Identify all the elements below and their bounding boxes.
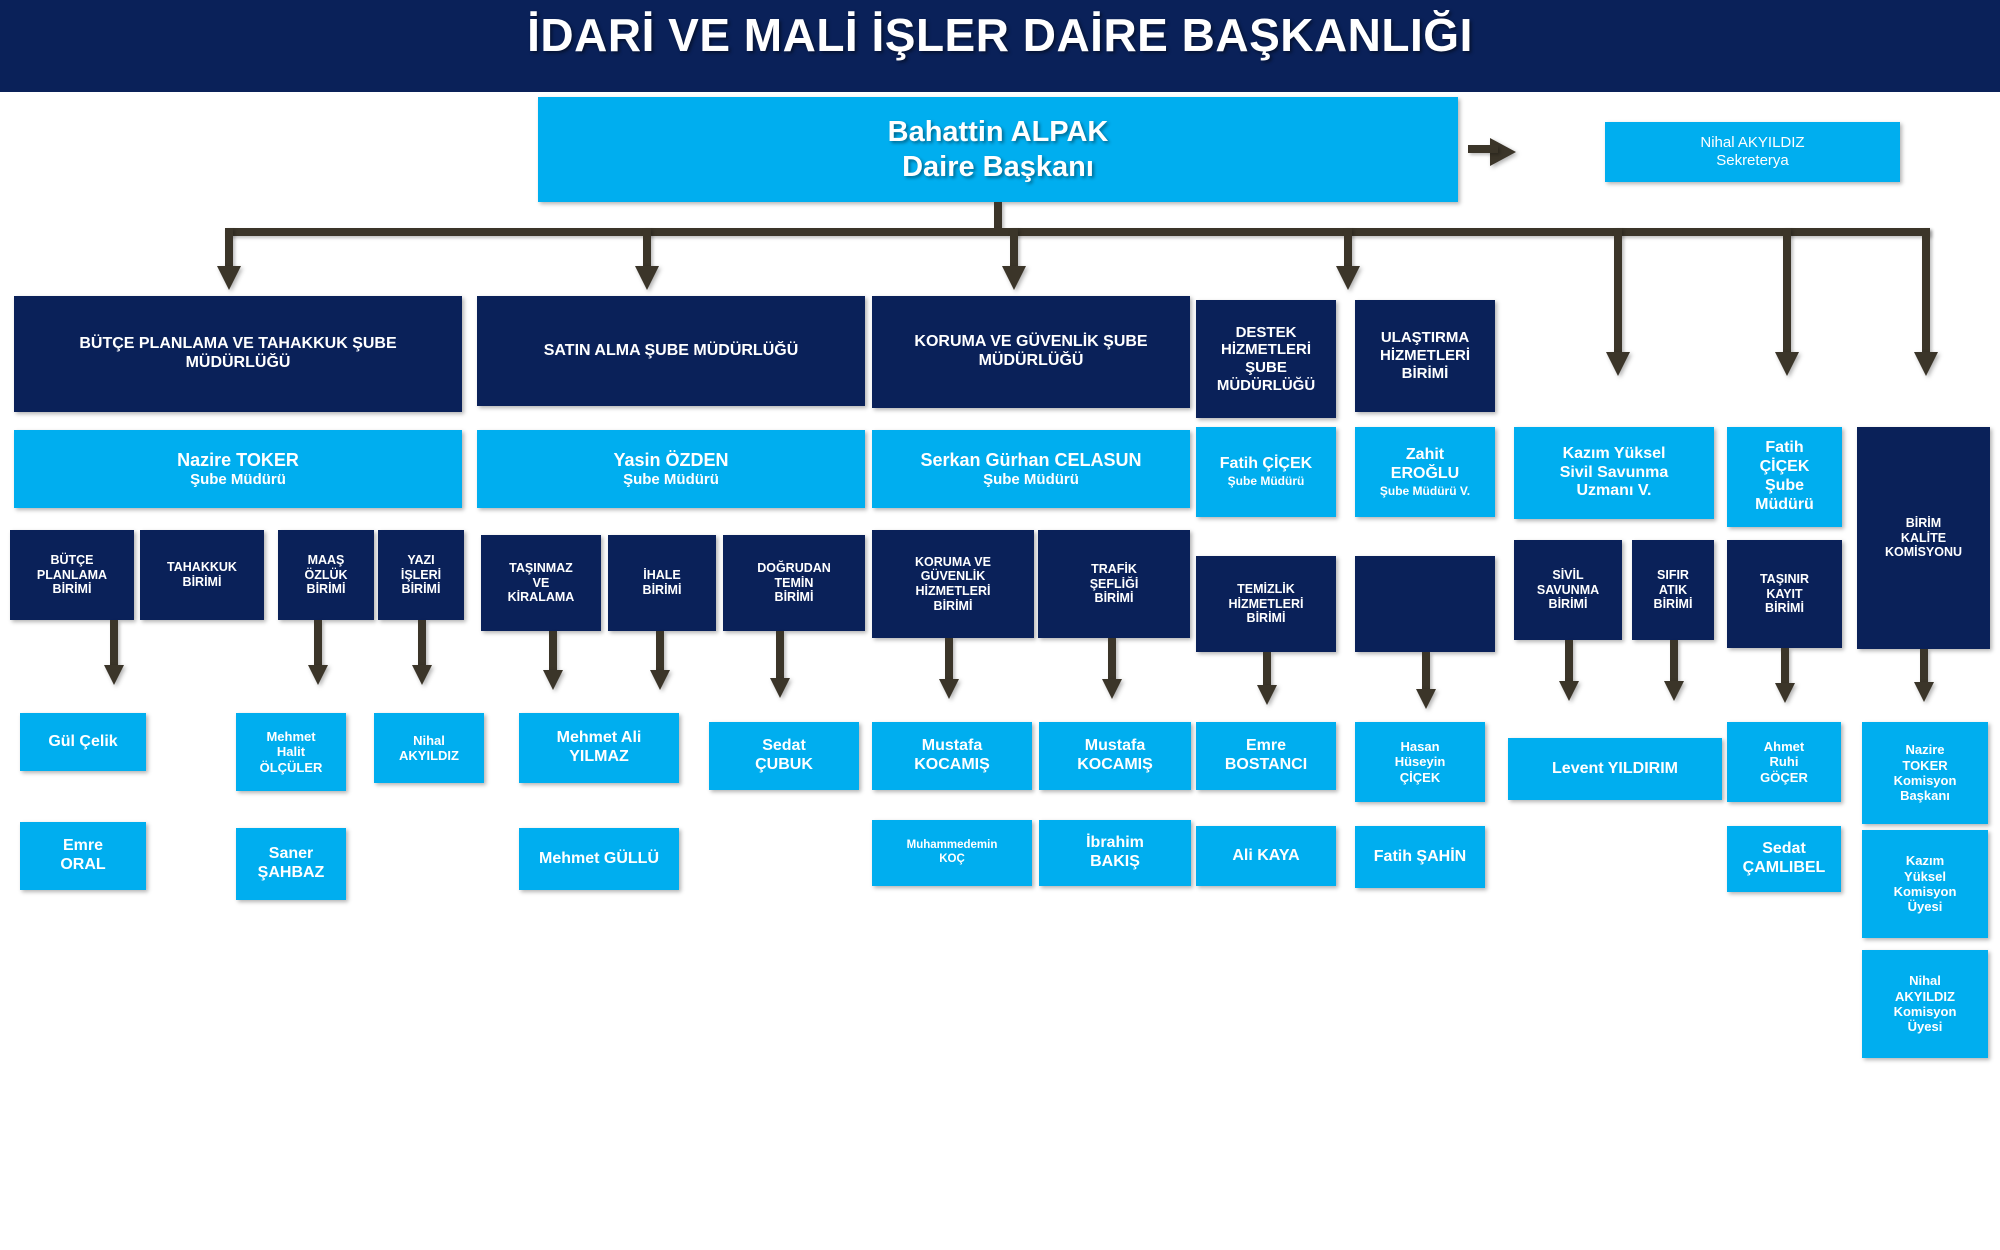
unit-butce-planlama-line2: PLANLAMA bbox=[37, 568, 107, 583]
staff-ibrahim-line1: İbrahim bbox=[1086, 834, 1144, 853]
department-destek-line2: HİZMETLERİ bbox=[1221, 341, 1311, 359]
unit-box-sivil-savunma[interactable]: SİVİL SAVUNMA BİRİMİ bbox=[1514, 540, 1622, 640]
arrow-butce-icon bbox=[217, 266, 241, 290]
unit-dogrudan-line3: BİRİMİ bbox=[775, 590, 814, 605]
unit-koruma-h-line1: KORUMA VE bbox=[915, 555, 991, 570]
unit-yazi-line1: YAZI bbox=[407, 553, 434, 568]
staff-box-ali-kaya[interactable]: Ali KAYA bbox=[1196, 826, 1336, 886]
unit-ihale-line1: İHALE bbox=[643, 568, 681, 583]
staff-levent-line1: Levent YILDIRIM bbox=[1552, 760, 1678, 779]
unit-box-tahakkuk[interactable]: TAHAKKUK BİRİMİ bbox=[140, 530, 264, 620]
unit-tasinmaz-line1: TAŞINMAZ bbox=[509, 561, 573, 576]
staff-nazire-k-line2: TOKER bbox=[1902, 758, 1947, 773]
staff-sedat-camlibel-line2: ÇAMLIBEL bbox=[1743, 859, 1826, 878]
staff-box-gul-celik[interactable]: Gül Çelik bbox=[20, 713, 146, 771]
manager-sivil-line2: Sivil Savunma bbox=[1560, 464, 1669, 483]
connector-sifir-atik bbox=[1670, 640, 1678, 684]
drop-destek bbox=[1344, 228, 1352, 270]
unit-dogrudan-line1: DOĞRUDAN bbox=[757, 561, 831, 576]
drop-satinalma bbox=[643, 228, 651, 270]
unit-box-butce-planlama[interactable]: BÜTÇE PLANLAMA BİRİMİ bbox=[10, 530, 134, 620]
staff-mehmet-ali-line1: Mehmet Ali bbox=[557, 729, 642, 748]
page-title: İDARİ VE MALİ İŞLER DAİRE BAŞKANLIĞI bbox=[0, 8, 2000, 62]
manager-sivil-line3: Uzmanı V. bbox=[1577, 482, 1652, 501]
staff-kazim-k-line3: Komisyon bbox=[1894, 884, 1957, 899]
unit-tasinir-line1: TAŞINIR bbox=[1760, 572, 1809, 587]
staff-box-emre-oral[interactable]: Emre ORAL bbox=[20, 822, 146, 890]
staff-mehmet-halit-line2: Halit bbox=[277, 744, 305, 759]
arrow-ihale-icon bbox=[650, 670, 670, 690]
staff-muhammed-line1: Muhammedemin bbox=[907, 839, 998, 853]
department-ulastirma-line1: ULAŞTIRMA bbox=[1381, 329, 1469, 347]
department-box-ulastirma[interactable]: ULAŞTIRMA HİZMETLERİ BİRİMİ bbox=[1355, 300, 1495, 412]
staff-nihal-k-line3: Komisyon bbox=[1894, 1004, 1957, 1019]
manager-ulastirma-name-line2: EROĞLU bbox=[1391, 465, 1459, 484]
manager-box-tasinir[interactable]: Fatih ÇİÇEK Şube Müdürü bbox=[1727, 427, 1842, 527]
department-butce-line2: MÜDÜRLÜĞÜ bbox=[186, 354, 291, 373]
unit-sifir-line2: ATIK bbox=[1659, 583, 1687, 598]
staff-box-mustafa-kocamis-2[interactable]: Mustafa KOCAMIŞ bbox=[1039, 722, 1191, 790]
unit-box-temizlik[interactable]: TEMİZLİK HİZMETLERİ BİRİMİ bbox=[1196, 556, 1336, 652]
manager-box-ulastirma[interactable]: Zahit EROĞLU Şube Müdürü V. bbox=[1355, 427, 1495, 517]
staff-box-ahmet-ruhi[interactable]: Ahmet Ruhi GÖÇER bbox=[1727, 722, 1841, 802]
department-box-destek[interactable]: DESTEK HİZMETLERİ ŞUBE MÜDÜRLÜĞÜ bbox=[1196, 300, 1336, 418]
staff-mustafa-1-line2: KOCAMIŞ bbox=[914, 756, 990, 775]
manager-koruma-title: Şube Müdürü bbox=[983, 471, 1079, 489]
staff-kazim-k-line2: Yüksel bbox=[1904, 869, 1946, 884]
staff-emre-bostanci-line2: BOSTANCI bbox=[1225, 756, 1307, 775]
unit-temizlik-line1: TEMİZLİK bbox=[1237, 582, 1295, 597]
connector-butce-planlama bbox=[110, 620, 118, 668]
manager-tasinir-line2: ÇİÇEK bbox=[1760, 458, 1810, 477]
staff-mustafa-2-line1: Mustafa bbox=[1085, 737, 1145, 756]
unit-yazi-line2: İŞLERİ bbox=[401, 568, 441, 583]
unit-sivil-line1: SİVİL bbox=[1552, 568, 1583, 583]
department-destek-line4: MÜDÜRLÜĞÜ bbox=[1217, 377, 1315, 395]
connector-temizlik bbox=[1263, 652, 1271, 688]
connector-dogrudan bbox=[776, 631, 784, 681]
staff-box-mehmet-ali-yilmaz[interactable]: Mehmet Ali YILMAZ bbox=[519, 713, 679, 783]
arrow-sifir-atik-icon bbox=[1664, 681, 1684, 701]
staff-box-sedat-camlibel[interactable]: Sedat ÇAMLIBEL bbox=[1727, 826, 1841, 892]
manager-ulastirma-name-line1: Zahit bbox=[1406, 446, 1444, 465]
manager-satinalma-title: Şube Müdürü bbox=[623, 471, 719, 489]
staff-box-mustafa-kocamis-1[interactable]: Mustafa KOCAMIŞ bbox=[872, 722, 1032, 790]
staff-nazire-k-line3: Komisyon bbox=[1894, 773, 1957, 788]
arrow-sivil-icon bbox=[1606, 352, 1630, 376]
staff-box-kazim-yuksel-komisyon[interactable]: Kazım Yüksel Komisyon Üyesi bbox=[1862, 830, 1988, 938]
department-box-butce[interactable]: BÜTÇE PLANLAMA VE TAHAKKUK ŞUBE MÜDÜRLÜĞ… bbox=[14, 296, 462, 412]
drop-koruma bbox=[1010, 228, 1018, 270]
connector-tasinir-unit bbox=[1781, 648, 1789, 686]
arrow-maas-icon bbox=[308, 665, 328, 685]
arrow-tasinmaz-icon bbox=[543, 670, 563, 690]
drop-komisyon bbox=[1922, 228, 1930, 356]
staff-hasan-line1: Hasan bbox=[1400, 739, 1439, 754]
root-name: Bahattin ALPAK bbox=[888, 115, 1109, 149]
drop-butce bbox=[225, 228, 233, 270]
unit-temizlik-line2: HİZMETLERİ bbox=[1229, 597, 1304, 612]
unit-dogrudan-line2: TEMİN bbox=[775, 576, 814, 591]
unit-butce-planlama-line3: BİRİMİ bbox=[53, 582, 92, 597]
manager-koruma-name: Serkan Gürhan CELASUN bbox=[920, 450, 1141, 471]
department-satinalma-line1: SATIN ALMA ŞUBE MÜDÜRLÜĞÜ bbox=[544, 342, 799, 361]
unit-box-blank[interactable] bbox=[1355, 556, 1495, 652]
manager-tasinir-line4: Müdürü bbox=[1755, 496, 1814, 515]
unit-sifir-line3: BİRİMİ bbox=[1654, 597, 1693, 612]
manager-box-destek[interactable]: Fatih ÇİÇEK Şube Müdürü bbox=[1196, 427, 1336, 517]
staff-mehmet-ali-line2: YILMAZ bbox=[569, 748, 629, 767]
arrow-sivil-unit-icon bbox=[1559, 681, 1579, 701]
drop-tasinir bbox=[1783, 228, 1791, 356]
manager-ulastirma-title: Şube Müdürü V. bbox=[1380, 484, 1470, 498]
connector-trafik bbox=[1108, 638, 1116, 682]
staff-kazim-k-line1: Kazım bbox=[1906, 853, 1944, 868]
staff-mustafa-2-line2: KOCAMIŞ bbox=[1077, 756, 1153, 775]
arrow-yazi-icon bbox=[412, 665, 432, 685]
connector-koruma-h bbox=[945, 638, 953, 682]
unit-box-yazi-isleri[interactable]: YAZI İŞLERİ BİRİMİ bbox=[378, 530, 464, 620]
unit-ihale-line2: BİRİMİ bbox=[643, 583, 682, 598]
unit-tasinmaz-line2: VE bbox=[533, 576, 550, 591]
connector-sivil-unit bbox=[1565, 640, 1573, 684]
staff-mehmet-gullu-line1: Mehmet GÜLLÜ bbox=[539, 850, 659, 869]
staff-emre-bostanci-line1: Emre bbox=[1246, 737, 1286, 756]
staff-nazire-k-line4: Başkanı bbox=[1900, 788, 1950, 803]
staff-box-emre-bostanci[interactable]: Emre BOSTANCI bbox=[1196, 722, 1336, 790]
root-drop-line bbox=[994, 202, 1002, 228]
arrow-koruma-h-icon bbox=[939, 679, 959, 699]
unit-temizlik-line3: BİRİMİ bbox=[1247, 611, 1286, 626]
department-box-koruma[interactable]: KORUMA VE GÜVENLİK ŞUBE MÜDÜRLÜĞÜ bbox=[872, 296, 1190, 408]
manager-destek-title: Şube Müdürü bbox=[1228, 474, 1305, 488]
unit-maas-line3: BİRİMİ bbox=[307, 582, 346, 597]
staff-muhammed-line2: KOÇ bbox=[939, 853, 965, 867]
arrow-dogrudan-icon bbox=[770, 678, 790, 698]
staff-saner-line2: ŞAHBAZ bbox=[258, 864, 325, 883]
staff-emre-oral-line1: Emre bbox=[63, 837, 103, 856]
staff-box-fatih-sahin[interactable]: Fatih ŞAHİN bbox=[1355, 826, 1485, 888]
department-destek-line3: ŞUBE bbox=[1245, 359, 1287, 377]
staff-nihal-line2: AKYILDIZ bbox=[399, 748, 459, 763]
arrow-destek-icon bbox=[1336, 266, 1360, 290]
arrow-blank-icon bbox=[1416, 689, 1436, 709]
unit-box-dogrudan-temin[interactable]: DOĞRUDAN TEMİN BİRİMİ bbox=[723, 535, 865, 631]
unit-sifir-line1: SIFIR bbox=[1657, 568, 1689, 583]
staff-ahmet-line3: GÖÇER bbox=[1760, 770, 1808, 785]
department-ulastirma-line3: BİRİMİ bbox=[1402, 365, 1449, 383]
staff-sedat-cubuk-line2: ÇUBUK bbox=[755, 756, 813, 775]
unit-tasinir-line2: KAYIT bbox=[1766, 587, 1802, 602]
unit-butce-planlama-line1: BÜTÇE bbox=[50, 553, 93, 568]
unit-trafik-line2: ŞEFLİĞİ bbox=[1090, 577, 1139, 592]
staff-nihal-k-line2: AKYILDIZ bbox=[1895, 989, 1955, 1004]
manager-box-koruma[interactable]: Serkan Gürhan CELASUN Şube Müdürü bbox=[872, 430, 1190, 508]
komisyon-line3: KOMİSYONU bbox=[1885, 545, 1962, 560]
staff-ali-kaya-line1: Ali KAYA bbox=[1232, 847, 1299, 866]
unit-maas-line1: MAAŞ bbox=[308, 553, 345, 568]
unit-koruma-h-line4: BİRİMİ bbox=[934, 599, 973, 614]
unit-trafik-line1: TRAFİK bbox=[1091, 562, 1137, 577]
department-ulastirma-line2: HİZMETLERİ bbox=[1380, 347, 1470, 365]
staff-box-nihal-akyildiz[interactable]: Nihal AKYILDIZ bbox=[374, 713, 484, 783]
department-box-satinalma[interactable]: SATIN ALMA ŞUBE MÜDÜRLÜĞÜ bbox=[477, 296, 865, 406]
org-chart-canvas: İDARİ VE MALİ İŞLER DAİRE BAŞKANLIĞI Bah… bbox=[0, 0, 2000, 1250]
secretary-title: Sekreterya bbox=[1716, 152, 1789, 170]
komisyon-line1: BİRİM bbox=[1906, 516, 1941, 531]
arrow-trafik-icon bbox=[1102, 679, 1122, 699]
manager-tasinir-line1: Fatih bbox=[1765, 439, 1803, 458]
unit-maas-line2: ÖZLÜK bbox=[304, 568, 347, 583]
unit-koruma-h-line2: GÜVENLİK bbox=[921, 569, 986, 584]
connector-komisyon-unit bbox=[1920, 649, 1928, 685]
unit-tahakkuk-line1: TAHAKKUK bbox=[167, 560, 237, 575]
unit-sivil-line2: SAVUNMA bbox=[1537, 583, 1599, 598]
manager-box-sivil-savunma[interactable]: Kazım Yüksel Sivil Savunma Uzmanı V. bbox=[1514, 427, 1714, 519]
unit-koruma-h-line3: HİZMETLERİ bbox=[916, 584, 991, 599]
staff-ibrahim-line2: BAKIŞ bbox=[1090, 853, 1140, 872]
staff-gul-celik-line1: Gül Çelik bbox=[48, 733, 117, 752]
staff-nihal-k-line4: Üyesi bbox=[1908, 1019, 1943, 1034]
main-horizontal-bus bbox=[225, 228, 1930, 236]
staff-kazim-k-line4: Üyesi bbox=[1908, 899, 1943, 914]
manager-box-butce[interactable]: Nazire TOKER Şube Müdürü bbox=[14, 430, 462, 508]
unit-box-sifir-atik[interactable]: SIFIR ATIK BİRİMİ bbox=[1632, 540, 1714, 640]
root-box-daire-baskani[interactable]: Bahattin ALPAK Daire Başkanı bbox=[538, 97, 1458, 202]
unit-tasinmaz-line3: KİRALAMA bbox=[508, 590, 575, 605]
staff-box-ibrahim-bakis[interactable]: İbrahim BAKIŞ bbox=[1039, 820, 1191, 886]
staff-hasan-line2: Hüseyin bbox=[1395, 754, 1446, 769]
department-koruma-line1: KORUMA VE GÜVENLİK ŞUBE bbox=[914, 333, 1147, 352]
staff-fatih-sahin-line1: Fatih ŞAHİN bbox=[1374, 848, 1466, 867]
staff-ahmet-line1: Ahmet bbox=[1764, 739, 1804, 754]
unit-box-koruma-hizmetleri[interactable]: KORUMA VE GÜVENLİK HİZMETLERİ BİRİMİ bbox=[872, 530, 1034, 638]
manager-satinalma-name: Yasin ÖZDEN bbox=[613, 450, 728, 471]
staff-nazire-k-line1: Nazire bbox=[1905, 742, 1944, 757]
unit-box-tasinmaz[interactable]: TAŞINMAZ VE KİRALAMA bbox=[481, 535, 601, 631]
secretary-box[interactable]: Nihal AKYILDIZ Sekreterya bbox=[1605, 122, 1900, 182]
manager-butce-name: Nazire TOKER bbox=[177, 450, 299, 471]
staff-sedat-camlibel-line1: Sedat bbox=[1762, 840, 1806, 859]
manager-box-satinalma[interactable]: Yasin ÖZDEN Şube Müdürü bbox=[477, 430, 865, 508]
arrow-satinalma-icon bbox=[635, 266, 659, 290]
unit-yazi-line3: BİRİMİ bbox=[402, 582, 441, 597]
staff-box-mehmet-halit[interactable]: Mehmet Halit ÖLÇÜLER bbox=[236, 713, 346, 791]
staff-ahmet-line2: Ruhi bbox=[1770, 754, 1799, 769]
secretary-connector-line bbox=[1468, 145, 1498, 153]
arrow-tasinir-icon bbox=[1775, 352, 1799, 376]
manager-sivil-line1: Kazım Yüksel bbox=[1563, 445, 1666, 464]
unit-box-trafik-sefligi[interactable]: TRAFİK ŞEFLİĞİ BİRİMİ bbox=[1038, 530, 1190, 638]
connector-ihale bbox=[656, 631, 664, 673]
connector-blank bbox=[1422, 652, 1430, 692]
root-title: Daire Başkanı bbox=[902, 150, 1094, 184]
unit-tasinir-line3: BİRİMİ bbox=[1765, 601, 1804, 616]
manager-butce-title: Şube Müdürü bbox=[190, 471, 286, 489]
staff-mustafa-1-line1: Mustafa bbox=[922, 737, 982, 756]
komisyon-line2: KALİTE bbox=[1901, 531, 1946, 546]
arrow-butce-planlama-icon bbox=[104, 665, 124, 685]
unit-box-maas-ozluk[interactable]: MAAŞ ÖZLÜK BİRİMİ bbox=[278, 530, 374, 620]
connector-tasinmaz bbox=[549, 631, 557, 673]
drop-sivil bbox=[1614, 228, 1622, 356]
connector-yazi bbox=[418, 620, 426, 668]
staff-box-levent-yildirim[interactable]: Levent YILDIRIM bbox=[1508, 738, 1722, 800]
unit-trafik-line3: BİRİMİ bbox=[1095, 591, 1134, 606]
arrow-tasinir-unit-icon bbox=[1775, 683, 1795, 703]
staff-mehmet-halit-line3: ÖLÇÜLER bbox=[260, 760, 323, 775]
arrow-temizlik-icon bbox=[1257, 685, 1277, 705]
arrow-komisyon-icon bbox=[1914, 352, 1938, 376]
staff-mehmet-halit-line1: Mehmet bbox=[266, 729, 315, 744]
staff-box-hasan-huseyin[interactable]: Hasan Hüseyin ÇİÇEK bbox=[1355, 722, 1485, 802]
staff-sedat-cubuk-line1: Sedat bbox=[762, 737, 806, 756]
staff-nihal-line1: Nihal bbox=[413, 733, 445, 748]
manager-destek-name: Fatih ÇİÇEK bbox=[1220, 455, 1312, 474]
arrow-komisyon-unit-icon bbox=[1914, 682, 1934, 702]
arrow-koruma-icon bbox=[1002, 266, 1026, 290]
secretary-name: Nihal AKYILDIZ bbox=[1700, 134, 1804, 152]
staff-emre-oral-line2: ORAL bbox=[60, 856, 105, 875]
connector-maas bbox=[314, 620, 322, 668]
staff-box-sedat-cubuk[interactable]: Sedat ÇUBUK bbox=[709, 722, 859, 790]
staff-box-nazire-toker-komisyon[interactable]: Nazire TOKER Komisyon Başkanı bbox=[1862, 722, 1988, 824]
unit-sivil-line3: BİRİMİ bbox=[1549, 597, 1588, 612]
unit-box-ihale[interactable]: İHALE BİRİMİ bbox=[608, 535, 716, 631]
staff-saner-line1: Saner bbox=[269, 845, 313, 864]
manager-tasinir-line3: Şube bbox=[1765, 477, 1804, 496]
staff-box-mehmet-gullu[interactable]: Mehmet GÜLLÜ bbox=[519, 828, 679, 890]
staff-nihal-k-line1: Nihal bbox=[1909, 973, 1941, 988]
department-destek-line1: DESTEK bbox=[1236, 324, 1297, 342]
unit-tahakkuk-line2: BİRİMİ bbox=[183, 575, 222, 590]
staff-box-saner-sahbaz[interactable]: Saner ŞAHBAZ bbox=[236, 828, 346, 900]
komisyon-box-birim-kalite[interactable]: BİRİM KALİTE KOMİSYONU bbox=[1857, 427, 1990, 649]
staff-box-nihal-akyildiz-komisyon[interactable]: Nihal AKYILDIZ Komisyon Üyesi bbox=[1862, 950, 1988, 1058]
unit-box-tasinir-kayit[interactable]: TAŞINIR KAYIT BİRİMİ bbox=[1727, 540, 1842, 648]
staff-hasan-line3: ÇİÇEK bbox=[1400, 770, 1440, 785]
staff-box-muhammedemin-koc[interactable]: Muhammedemin KOÇ bbox=[872, 820, 1032, 886]
department-koruma-line2: MÜDÜRLÜĞÜ bbox=[979, 352, 1084, 371]
department-butce-line1: BÜTÇE PLANLAMA VE TAHAKKUK ŞUBE bbox=[79, 335, 396, 354]
